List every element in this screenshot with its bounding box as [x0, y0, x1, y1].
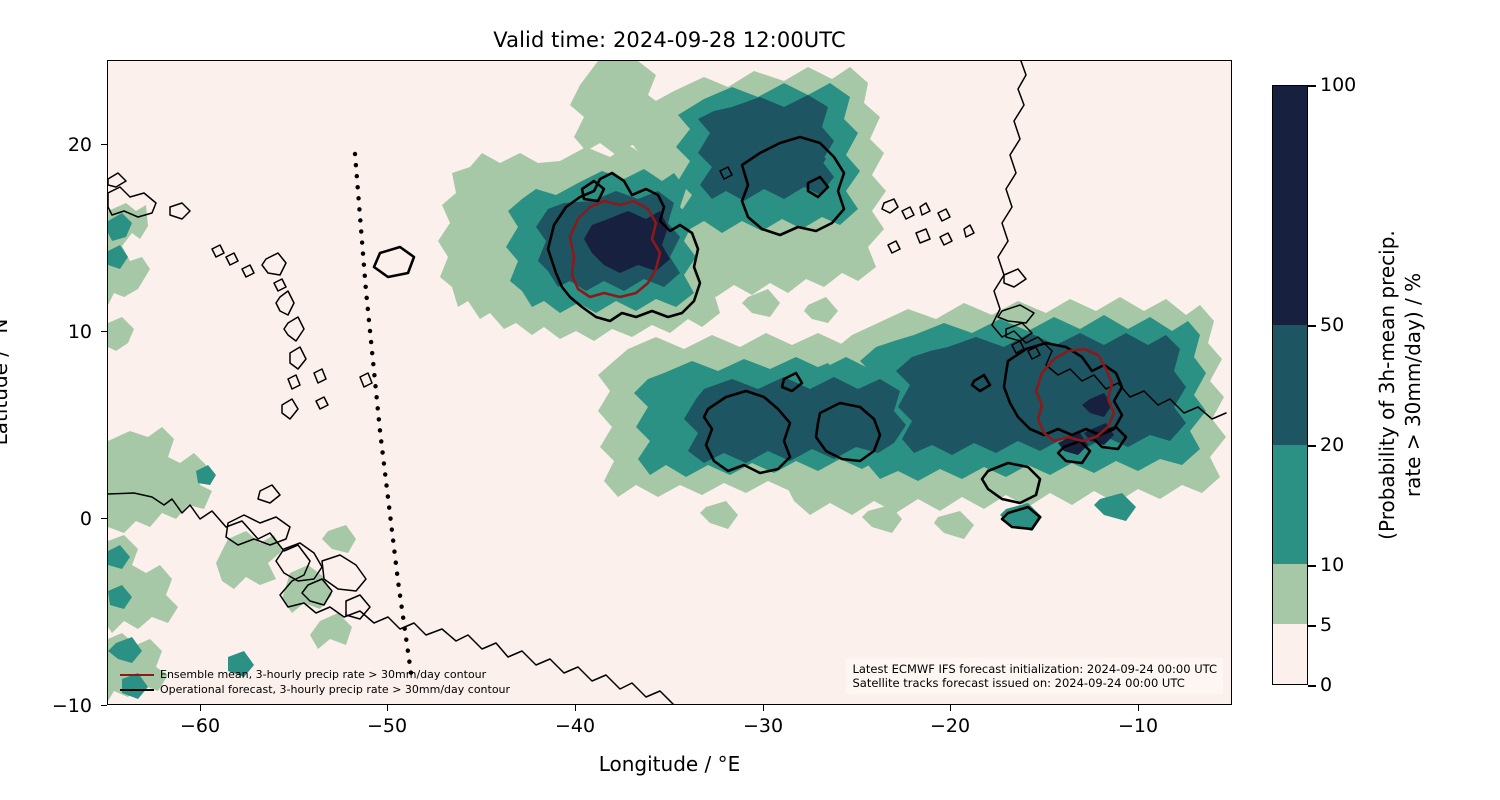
x-tick-mark [387, 705, 388, 711]
x-tick-mark [950, 705, 951, 711]
colorbar-tick-mark [1308, 625, 1316, 627]
y-tick-label: 10 [40, 321, 92, 343]
colorbar-band-5-10 [1273, 564, 1307, 624]
colorbar-axis-label: (Probability of 3h-mean precip. rate > 3… [1374, 105, 1426, 665]
x-tick-mark [763, 705, 764, 711]
x-tick-label: −10 [1118, 715, 1158, 737]
y-tick-label: −10 [32, 695, 92, 717]
y-axis-label: Latitude / °N [0, 232, 12, 532]
annotation-line-initialization: Latest ECMWF IFS forecast initialization… [852, 662, 1217, 676]
colorbar-tick-label: 50 [1320, 314, 1344, 336]
x-tick-mark [1138, 705, 1139, 711]
y-tick-mark [101, 705, 107, 706]
y-tick-mark [101, 331, 107, 332]
colorbar-tick-label: 5 [1320, 614, 1332, 636]
x-tick-label: −50 [367, 715, 407, 737]
map-plot-area[interactable]: Ensemble mean, 3-hourly precip rate > 30… [107, 60, 1232, 705]
colorbar-band-10-20 [1273, 445, 1307, 565]
map-canvas [108, 61, 1232, 705]
legend-swatch-ensemble-mean [120, 674, 154, 676]
figure-root: Valid time: 2024-09-28 12:00UTC [0, 0, 1500, 800]
y-tick-label: 0 [40, 508, 92, 530]
x-tick-mark [200, 705, 201, 711]
y-tick-mark [101, 144, 107, 145]
y-tick-label: 20 [40, 134, 92, 156]
legend-entry-ensemble-mean: Ensemble mean, 3-hourly precip rate > 30… [120, 667, 510, 682]
colorbar-tick-label: 10 [1320, 554, 1344, 576]
colorbar-band-0-5 [1273, 624, 1307, 684]
colorbar-tick-mark [1308, 325, 1316, 327]
legend-label-ensemble-mean: Ensemble mean, 3-hourly precip rate > 30… [160, 667, 486, 682]
forecast-metadata-annotation: Latest ECMWF IFS forecast initialization… [846, 658, 1223, 694]
chart-title: Valid time: 2024-09-28 12:00UTC [107, 28, 1232, 52]
x-tick-label: −40 [555, 715, 595, 737]
colorbar-tick-label: 100 [1320, 74, 1356, 96]
colorbar[interactable] [1272, 85, 1308, 685]
colorbar-label-line-1: (Probability of 3h-mean precip. [1375, 230, 1399, 540]
colorbar-tick-mark [1308, 85, 1316, 87]
colorbar-label-line-2: rate > 30mm/day) / % [1401, 273, 1425, 497]
legend-label-operational-forecast: Operational forecast, 3-hourly precip ra… [160, 682, 510, 697]
colorbar-tick-mark [1308, 685, 1316, 687]
x-tick-label: −30 [743, 715, 783, 737]
x-tick-label: −20 [930, 715, 970, 737]
colorbar-band-20-50 [1273, 325, 1307, 445]
colorbar-tick-label: 20 [1320, 434, 1344, 456]
annotation-line-satellite-tracks: Satellite tracks forecast issued on: 202… [852, 676, 1217, 690]
legend-swatch-operational-forecast [120, 689, 154, 691]
x-axis-label: Longitude / °E [107, 752, 1232, 776]
colorbar-tick-mark [1308, 565, 1316, 567]
colorbar-tick-label: 0 [1320, 674, 1332, 696]
contour-legend: Ensemble mean, 3-hourly precip rate > 30… [116, 665, 514, 699]
legend-entry-operational-forecast: Operational forecast, 3-hourly precip ra… [120, 682, 510, 697]
x-tick-label: −60 [180, 715, 220, 737]
colorbar-tick-mark [1308, 445, 1316, 447]
satellite-track [355, 154, 411, 673]
colorbar-band-50-100 [1273, 86, 1307, 325]
x-tick-mark [575, 705, 576, 711]
y-tick-mark [101, 518, 107, 519]
